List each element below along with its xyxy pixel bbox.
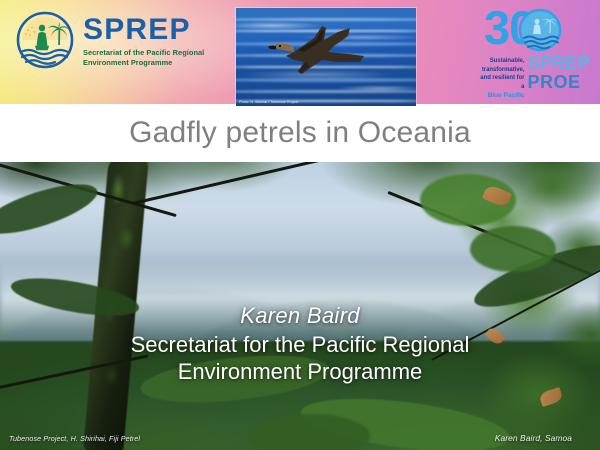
sprep-logo: SPREP Secretariat of the Pacific Regiona…: [14, 9, 204, 71]
organization-line-1: Secretariat for the Pacific Regional: [0, 332, 600, 359]
anniversary-tagline: Sustainable, transformative, and resilie…: [478, 54, 524, 100]
petrel-bird-icon: [264, 22, 386, 80]
petrel-photo: Photo: H. Shirihai / Tubenose Project: [236, 8, 416, 106]
sprep-wordmark-block: SPREP Secretariat of the Pacific Regiona…: [83, 13, 204, 68]
sprep-circle-emblem-icon: [14, 9, 76, 71]
sprep-tagline: Secretariat of the Pacific Regional Envi…: [83, 48, 204, 68]
anniversary-tagline-line1: Sustainable,: [478, 57, 524, 66]
anniversary-circle-emblem-icon: [517, 8, 563, 54]
photo-credit-right: Karen Baird, Samoa: [495, 433, 572, 443]
organization-line-2: Environment Programme: [0, 359, 600, 386]
anniversary-top-row: 30: [478, 6, 590, 56]
petrel-photo-credit: Photo: H. Shirihai / Tubenose Project: [239, 101, 298, 104]
presentation-slide: SPREP Secretariat of the Pacific Regiona…: [0, 0, 600, 450]
presenter-name: Karen Baird: [0, 303, 600, 329]
slide-title-band: Gadfly petrels in Oceania: [0, 104, 600, 162]
sprep-tagline-line1: Secretariat of the Pacific Regional: [83, 48, 204, 58]
anniversary-name-block: SPREP PROE: [527, 54, 590, 91]
leaf-cluster-bottom-mid: [250, 414, 370, 450]
anniversary-name-english: SPREP: [527, 54, 590, 72]
leaf-cluster-right-mid: [470, 226, 556, 272]
anniversary-tagline-blue-pacific: Blue Pacific: [478, 91, 524, 100]
anniversary-name-french: PROE: [527, 73, 590, 91]
anniversary-tagline-line3: and resilient for a: [478, 74, 524, 91]
anniversary-tagline-line2: transformative,: [478, 66, 524, 75]
photo-credit-left: Tubenose Project, H. Shirihai, Fiji Petr…: [9, 434, 140, 443]
anniversary-30-logo: 30 Sustainable, tr: [478, 6, 590, 98]
page-title: Gadfly petrels in Oceania: [129, 118, 471, 148]
sprep-wordmark: SPREP: [83, 15, 204, 45]
slide-subtitle: Karen Baird Secretariat for the Pacific …: [0, 303, 600, 386]
sprep-tagline-line2: Environment Programme: [83, 58, 204, 68]
anniversary-bottom-row: Sustainable, transformative, and resilie…: [478, 54, 590, 100]
